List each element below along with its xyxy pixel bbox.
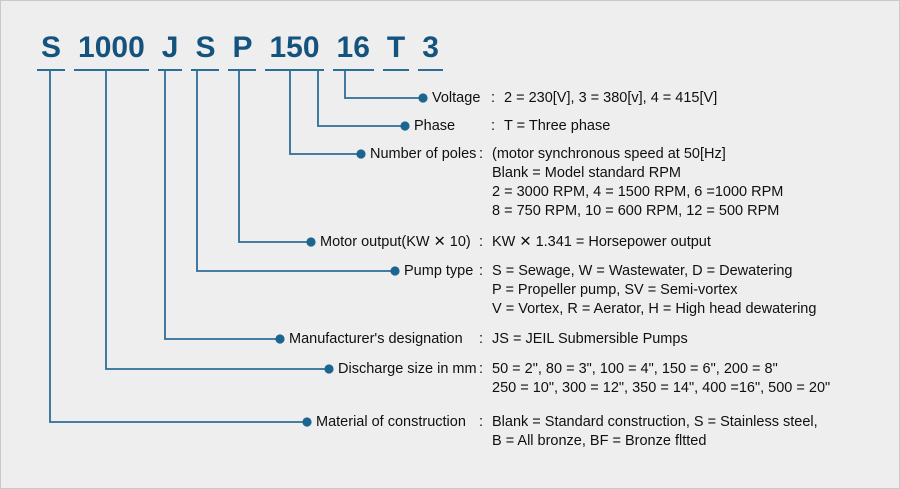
annotation-pump-type-value-line: S = Sewage, W = Wastewater, D = Dewateri… [492, 262, 816, 281]
annotation-pump-type-value-line: P = Propeller pump, SV = Semi-vortex [492, 281, 816, 300]
annotation-pump-type-values: S = Sewage, W = Wastewater, D = Dewateri… [492, 262, 816, 319]
annotation-motor-output-colon: : [479, 233, 483, 252]
annotation-motor-output-label: Motor output(KW ✕ 10) [320, 233, 471, 252]
annotation-phase-label: Phase [414, 117, 455, 136]
annotation-number-of-poles-label: Number of poles [370, 145, 476, 164]
annotation-material-of-construction-colon: : [479, 413, 483, 432]
annotation-voltage-values: 2 = 230[V], 3 = 380[v], 4 = 415[V] [504, 89, 717, 108]
code-segment-voltage: 3 [418, 31, 443, 71]
model-code-diagram: S 1000 J S P 150 16 T 3 [0, 0, 900, 489]
leader-number-of-poles [290, 71, 358, 154]
annotation-pump-type-value-line: V = Vortex, R = Aerator, H = High head d… [492, 300, 816, 319]
annotation-number-of-poles-value-line: (motor synchronous speed at 50[Hz] [492, 145, 783, 164]
code-segment-discharge-size: 1000 [74, 31, 149, 71]
annotation-manufacturers-designation-value-line: JS = JEIL Submersible Pumps [492, 330, 688, 349]
annotation-discharge-size: Discharge size in mm : 50 = 2", 80 = 3",… [1, 360, 900, 398]
annotation-number-of-poles-value-line: 8 = 750 RPM, 10 = 600 RPM, 12 = 500 RPM [492, 202, 783, 221]
annotation-number-of-poles-values: (motor synchronous speed at 50[Hz] Blank… [492, 145, 783, 221]
code-segment-manufacturer-j: J [158, 31, 183, 71]
annotation-manufacturers-designation-values: JS = JEIL Submersible Pumps [492, 330, 688, 349]
annotation-discharge-size-colon: : [479, 360, 483, 379]
annotation-pump-type-label: Pump type [404, 262, 473, 281]
annotation-manufacturers-designation-colon: : [479, 330, 483, 349]
annotation-discharge-size-value-line: 50 = 2", 80 = 3", 100 = 4", 150 = 6", 20… [492, 360, 830, 379]
annotation-motor-output-value-line: KW ✕ 1.341 = Horsepower output [492, 233, 711, 252]
annotation-voltage-colon: : [491, 89, 495, 108]
code-segment-motor-output: 150 [265, 31, 323, 71]
annotation-number-of-poles-colon: : [479, 145, 483, 164]
code-segment-number-of-poles: 16 [333, 31, 374, 71]
code-segment-manufacturer-s: S [191, 31, 219, 71]
annotation-discharge-size-label: Discharge size in mm [338, 360, 477, 379]
annotation-motor-output-values: KW ✕ 1.341 = Horsepower output [492, 233, 711, 252]
annotation-manufacturers-designation: Manufacturer's designation : JS = JEIL S… [1, 330, 900, 349]
annotation-number-of-poles: Number of poles : (motor synchronous spe… [1, 145, 900, 221]
annotation-number-of-poles-value-line: Blank = Model standard RPM [492, 164, 783, 183]
annotation-material-of-construction-value-line: B = All bronze, BF = Bronze fltted [492, 432, 818, 451]
annotation-voltage: Voltage : 2 = 230[V], 3 = 380[v], 4 = 41… [1, 89, 900, 108]
code-segment-material: S [37, 31, 65, 71]
annotation-phase: Phase : T = Three phase [1, 117, 900, 136]
annotation-voltage-value-line: 2 = 230[V], 3 = 380[v], 4 = 415[V] [504, 89, 717, 108]
annotation-number-of-poles-value-line: 2 = 3000 RPM, 4 = 1500 RPM, 6 =1000 RPM [492, 183, 783, 202]
annotation-discharge-size-values: 50 = 2", 80 = 3", 100 = 4", 150 = 6", 20… [492, 360, 830, 398]
annotation-phase-values: T = Three phase [504, 117, 610, 136]
annotation-material-of-construction-value-line: Blank = Standard construction, S = Stain… [492, 413, 818, 432]
annotation-material-of-construction: Material of construction : Blank = Stand… [1, 413, 900, 451]
annotation-voltage-label: Voltage [432, 89, 480, 108]
annotation-phase-colon: : [491, 117, 495, 136]
model-code-row: S 1000 J S P 150 16 T 3 [37, 35, 443, 71]
code-segment-phase: T [383, 31, 409, 71]
annotation-material-of-construction-values: Blank = Standard construction, S = Stain… [492, 413, 818, 451]
annotation-motor-output: Motor output(KW ✕ 10) : KW ✕ 1.341 = Hor… [1, 233, 900, 252]
annotation-phase-value-line: T = Three phase [504, 117, 610, 136]
annotation-manufacturers-designation-label: Manufacturer's designation [289, 330, 463, 349]
code-segment-pump-type: P [228, 31, 256, 71]
annotation-pump-type: Pump type : S = Sewage, W = Wastewater, … [1, 262, 900, 319]
annotation-material-of-construction-label: Material of construction [316, 413, 466, 432]
annotation-discharge-size-value-line: 250 = 10", 300 = 12", 350 = 14", 400 =16… [492, 379, 830, 398]
annotation-pump-type-colon: : [479, 262, 483, 281]
